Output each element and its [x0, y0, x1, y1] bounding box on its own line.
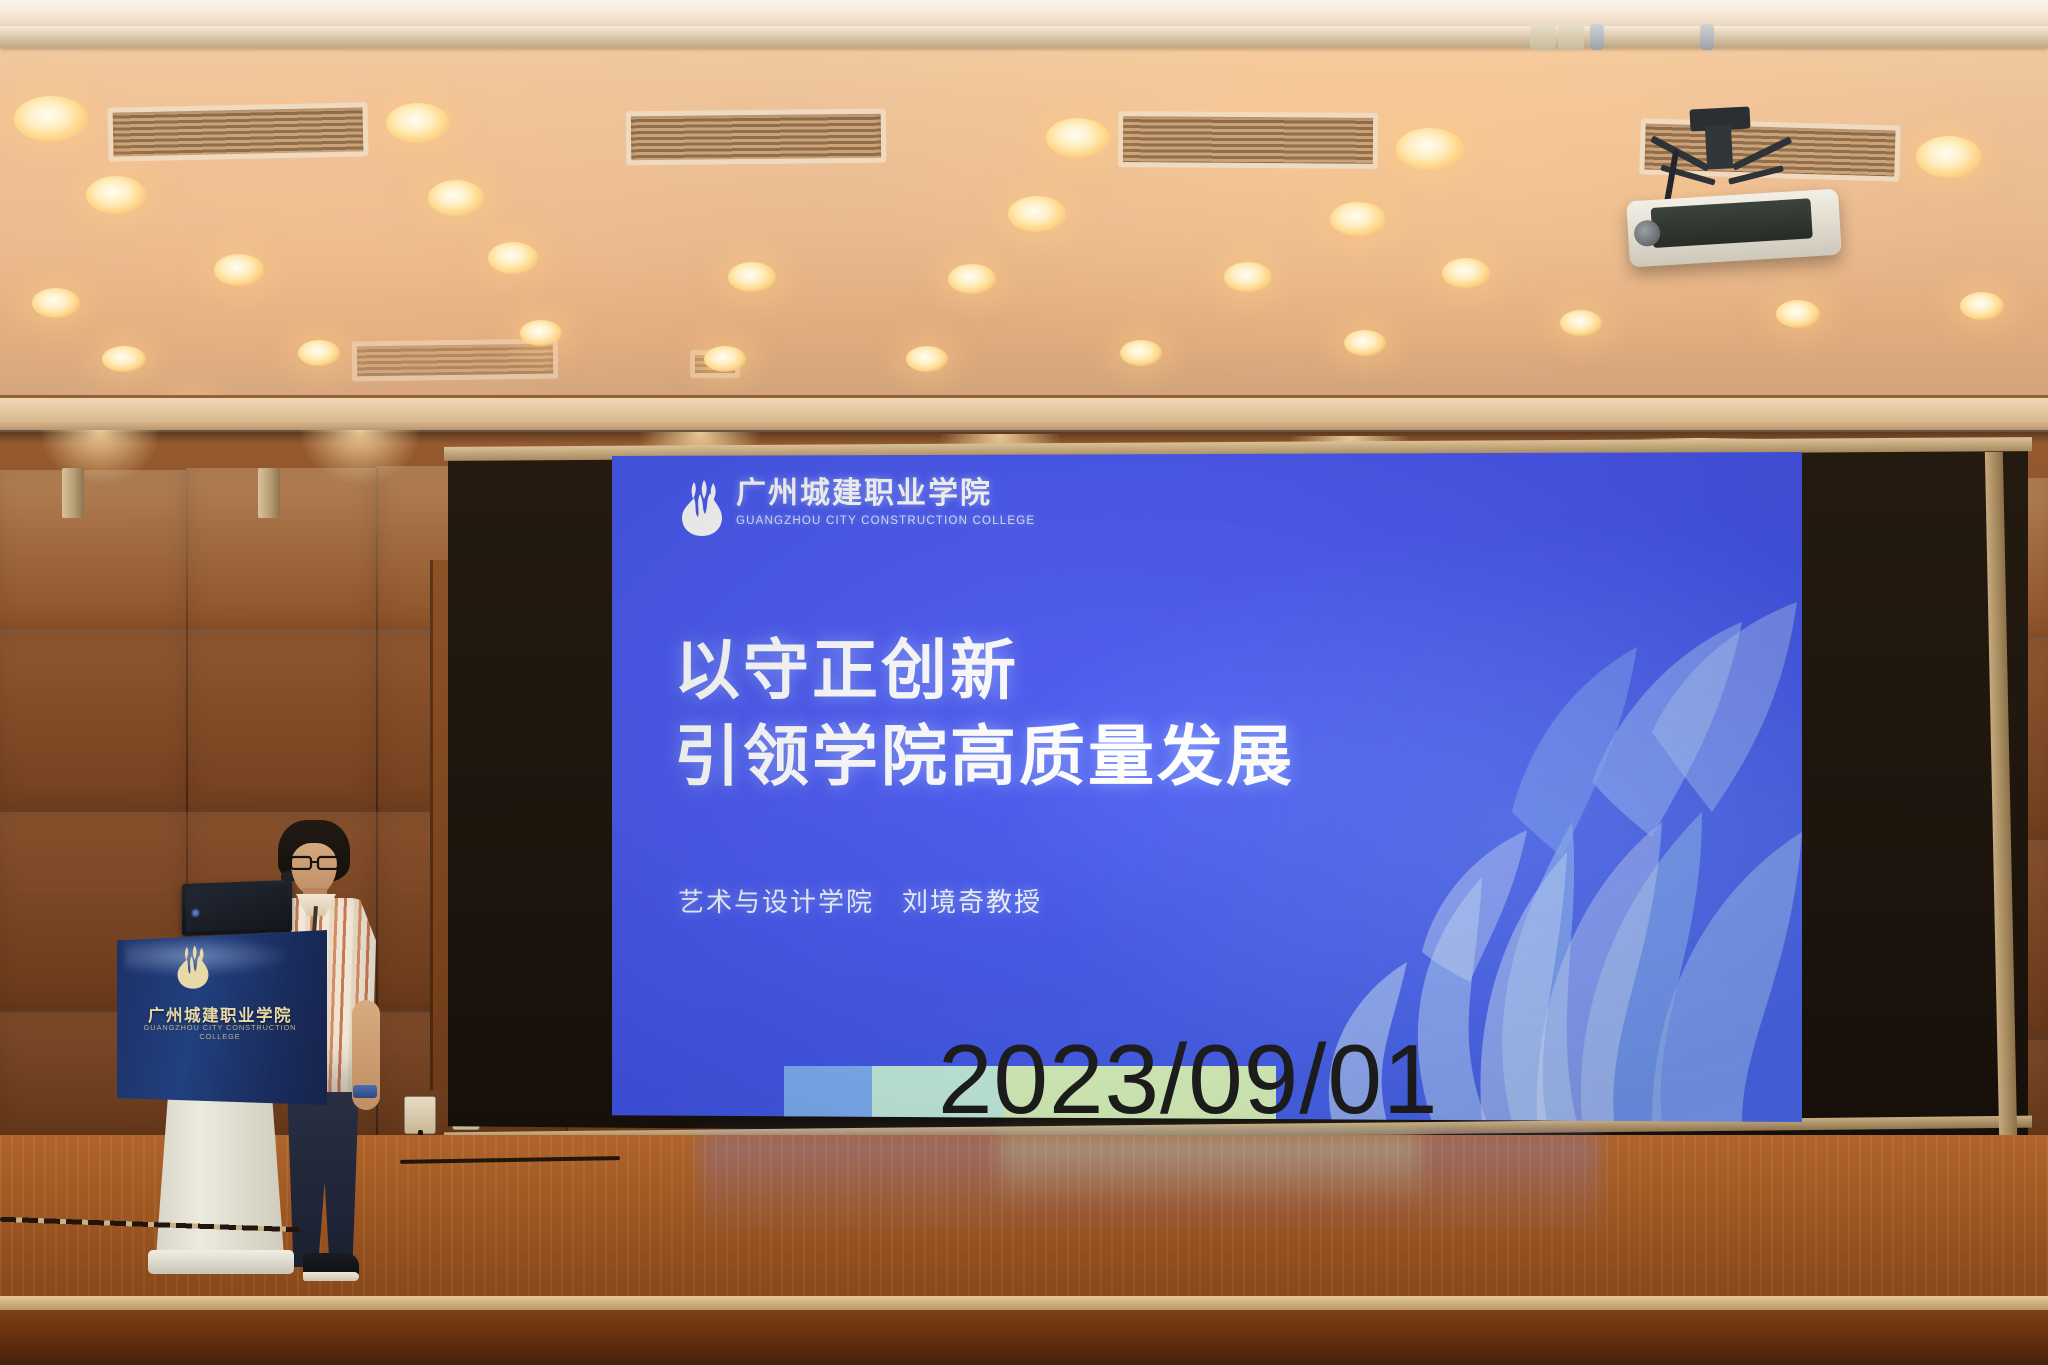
ceiling-downlight — [14, 96, 88, 142]
ceiling-downlight — [1396, 128, 1464, 170]
wall-pilaster — [258, 468, 280, 518]
speaker-shoe-sole — [303, 1272, 359, 1281]
wall-panel — [186, 630, 378, 812]
laptop-screen[interactable] — [186, 884, 288, 932]
lectern-name-en: GUANGZHOU CITY CONSTRUCTION COLLEGE — [125, 1023, 315, 1041]
slide-brand-lockup: 广州城建职业学院 GUANGZHOU CITY CONSTRUCTION COL… — [680, 478, 1035, 536]
ceiling-downlight — [32, 288, 80, 318]
ceiling-downlight — [428, 180, 484, 216]
wall-panel — [0, 470, 188, 632]
wall-soffit — [0, 398, 2048, 432]
ceiling-downlight — [1008, 196, 1066, 232]
slide-title-line-2: 引领学院高质量发展 — [674, 714, 1295, 800]
ceiling-downlight — [1560, 310, 1602, 336]
stage-apron — [0, 1310, 2048, 1365]
wall-panel — [186, 468, 378, 632]
ceiling-downlight — [728, 262, 776, 292]
ceiling-downlight — [1330, 202, 1386, 236]
ceiling-downlight — [1916, 136, 1982, 178]
ceiling-air-vent — [1118, 111, 1378, 169]
ceiling-downlight — [704, 346, 746, 372]
pipe-collar-icon — [1530, 24, 1556, 50]
pipe-collar-icon — [1700, 24, 1714, 50]
ceiling-downlight — [488, 242, 538, 274]
led-presentation-screen[interactable]: 广州城建职业学院 GUANGZHOU CITY CONSTRUCTION COL… — [612, 452, 1802, 1122]
slide-brand-name-en: GUANGZHOU CITY CONSTRUCTION COLLEGE — [736, 515, 1035, 527]
ceiling-air-vent — [352, 339, 559, 382]
lectern-base — [155, 1095, 285, 1270]
ceiling-downlight — [906, 346, 948, 372]
lectern-foot — [148, 1250, 294, 1274]
slide-title-line-1: 以守正创新 — [674, 628, 1295, 714]
ceiling-downlight — [1344, 330, 1386, 356]
projector-body-panel — [1651, 198, 1813, 248]
ceiling-air-vent — [107, 102, 368, 161]
slide-title: 以守正创新 引领学院高质量发展 — [674, 628, 1295, 800]
ceiling-projector — [1626, 189, 1842, 268]
ceiling-downlight — [1960, 292, 2004, 320]
wall-panel — [0, 630, 188, 812]
ceiling-downlight — [1120, 340, 1162, 366]
speaker-wristwatch — [353, 1085, 377, 1098]
ceiling-downlight — [102, 346, 146, 372]
slide-subtitle: 艺术与设计学院 刘境奇教授 — [678, 882, 1042, 919]
ceiling-downlight — [1776, 300, 1820, 328]
flame-logo-icon — [680, 480, 724, 536]
ceiling-downlight — [1046, 118, 1110, 158]
flame-logo-icon — [176, 945, 210, 989]
ceiling-air-vent — [626, 109, 887, 166]
ceiling-downlight — [520, 320, 562, 346]
ceiling-downlight — [1442, 258, 1490, 288]
wall-power-outlet[interactable] — [404, 1096, 436, 1134]
ceiling-downlight — [948, 264, 996, 294]
slide-date: 2023/09/01 — [938, 1023, 1438, 1122]
ceiling-pipe — [0, 26, 2048, 48]
auditorium-scene: 广州城建职业学院 GUANGZHOU CITY CONSTRUCTION COL… — [0, 0, 2048, 1365]
ceiling-downlight — [1224, 262, 1272, 292]
projector-arm — [1705, 124, 1733, 169]
glasses-icon — [290, 855, 339, 870]
slide-brand-name-cn: 广州城建职业学院 — [736, 478, 1035, 510]
ceiling-downlight — [298, 340, 340, 366]
ceiling-downlight — [86, 176, 146, 214]
wall-pilaster — [62, 468, 84, 518]
ceiling-downlight — [386, 103, 450, 143]
slide-brand-text: 广州城建职业学院 GUANGZHOU CITY CONSTRUCTION COL… — [736, 478, 1035, 527]
stage-block-reflection — [1000, 1135, 1420, 1225]
laptop[interactable] — [182, 880, 292, 936]
ceiling-downlight — [214, 254, 264, 286]
pipe-collar-icon — [1558, 24, 1584, 50]
color-block-blue — [784, 1066, 872, 1122]
pipe-collar-icon — [1590, 24, 1604, 50]
